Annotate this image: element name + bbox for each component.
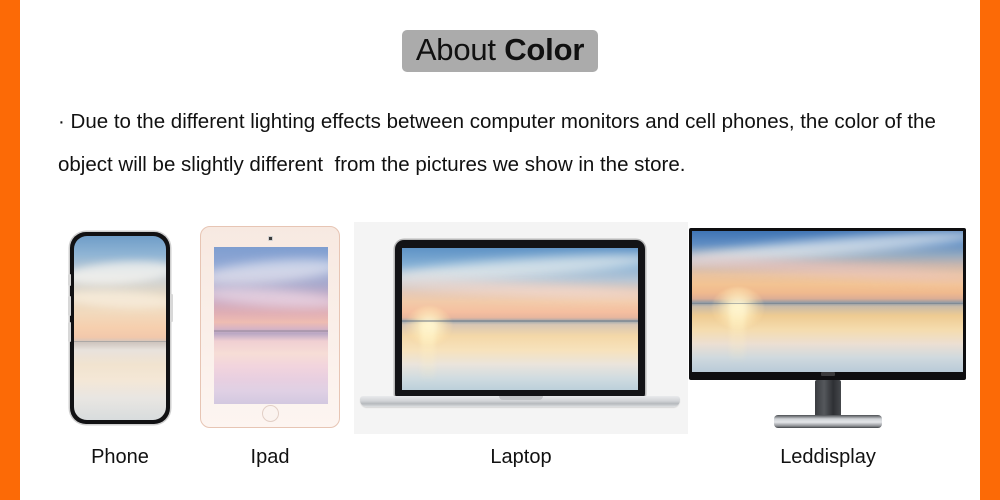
device-label-leddisplay: Leddisplay xyxy=(688,446,968,469)
ipad-wallpaper-sunset xyxy=(214,247,328,404)
monitor-stand-neck xyxy=(815,380,841,418)
laptop-lid xyxy=(395,240,645,398)
laptop-lid-notch xyxy=(499,396,543,400)
title-text-light: About xyxy=(416,32,504,67)
monitor-horizon-line xyxy=(692,303,963,305)
about-color-banner: About Color · Due to the different light… xyxy=(0,0,1000,500)
disclaimer-paragraph: · Due to the different lighting effects … xyxy=(58,100,968,186)
ipad-front-camera-icon xyxy=(268,236,273,241)
monitor-screen xyxy=(692,231,963,372)
ipad-screen xyxy=(214,247,328,404)
device-label-phone: Phone xyxy=(62,446,178,469)
phone-volume-down-button xyxy=(68,322,71,342)
device-image-laptop xyxy=(354,222,688,434)
title-chip: About Color xyxy=(402,30,598,72)
ipad-home-button xyxy=(262,405,279,422)
phone-screen xyxy=(74,236,166,420)
device-image-ipad xyxy=(196,222,344,434)
device-image-phone xyxy=(62,222,178,434)
monitor-sun-reflection xyxy=(730,303,745,361)
phone-mute-switch xyxy=(68,274,71,286)
device-gallery xyxy=(0,222,1000,434)
phone-wallpaper-sunset xyxy=(74,236,166,420)
phone-body xyxy=(70,232,170,424)
phone-horizon-line xyxy=(74,341,166,343)
monitor-panel xyxy=(689,228,966,380)
laptop-sun-reflection xyxy=(421,322,435,380)
monitor-brand-logo xyxy=(821,372,835,376)
page-title: About Color xyxy=(0,30,1000,72)
laptop-screen xyxy=(402,248,638,390)
device-label-laptop: Laptop xyxy=(354,446,688,469)
phone-volume-up-button xyxy=(68,296,71,316)
device-image-leddisplay xyxy=(688,222,968,434)
laptop-horizon-line xyxy=(402,320,638,322)
ipad-horizon-line xyxy=(214,330,328,332)
device-labels: Phone Ipad Laptop Leddisplay xyxy=(0,446,1000,480)
ipad-body xyxy=(200,226,340,428)
phone-power-button xyxy=(170,294,173,322)
monitor-stand-base xyxy=(774,415,882,428)
title-text-bold: Color xyxy=(504,32,584,67)
device-label-ipad: Ipad xyxy=(196,446,344,469)
